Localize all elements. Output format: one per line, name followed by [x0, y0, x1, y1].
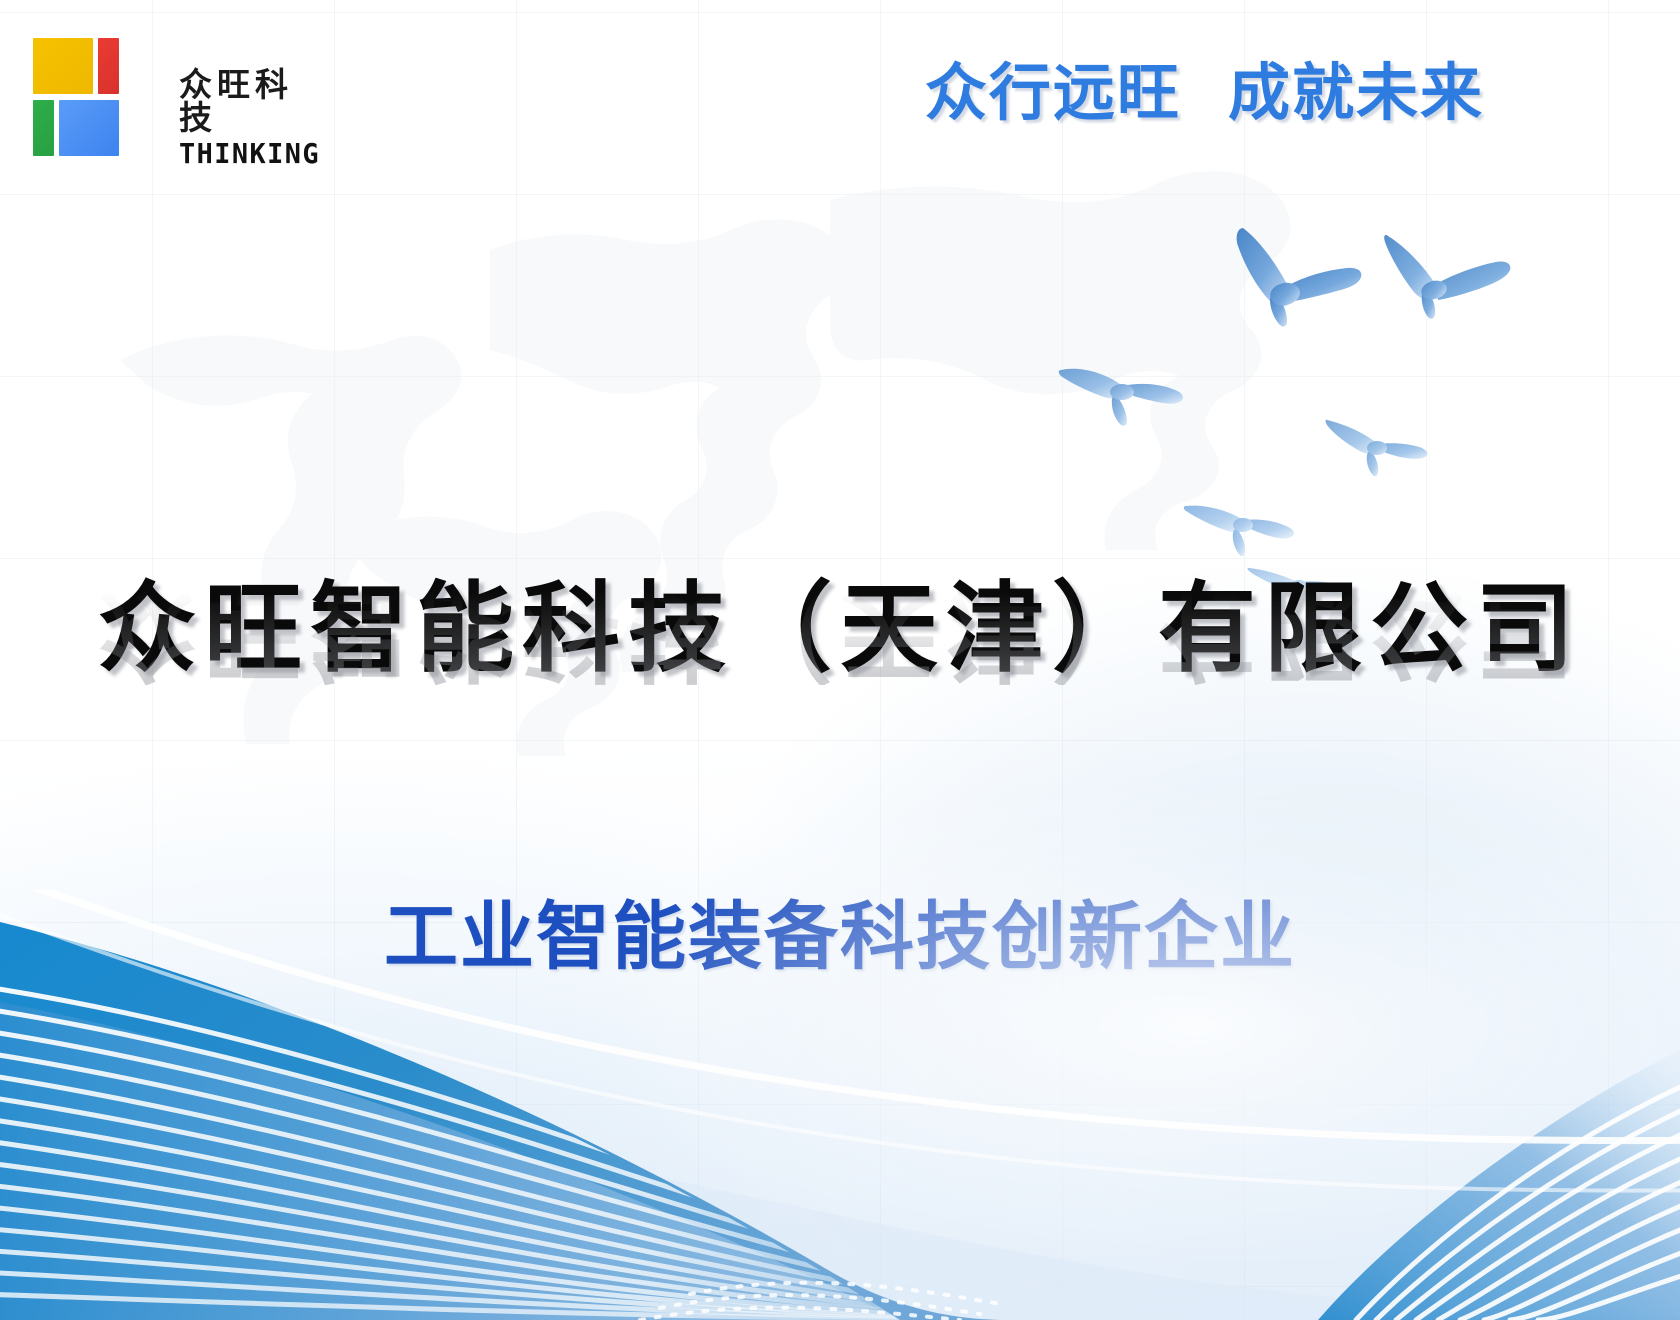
seagull-icon-2 — [1378, 228, 1518, 318]
logo-block-yellow-icon — [33, 38, 93, 94]
seagull-icon-1 — [1205, 222, 1380, 327]
logo-block-green-icon — [33, 100, 54, 156]
logo-block-red-icon — [98, 38, 119, 94]
presentation-title-slide: 众旺科技 THINKING 众行远旺 成就未来 — [0, 0, 1680, 1320]
logo-mark-icon — [33, 28, 127, 138]
page-subtitle: 工业智能装备科技创新企业 — [0, 900, 1680, 974]
slide-header: 众旺科技 THINKING 众行远旺 成就未来 — [0, 0, 1680, 200]
title-block: 众旺智能科技（天津）有限公司 众旺智能科技（天津）有限公司 — [0, 578, 1680, 788]
page-title-reflection: 众旺智能科技（天津）有限公司 — [0, 582, 1680, 685]
logo-divider — [167, 58, 169, 168]
company-logo[interactable]: 众旺科技 THINKING — [33, 28, 127, 138]
logo-wordmark: 众旺科技 THINKING — [179, 68, 326, 168]
seagull-icon-5 — [1180, 494, 1300, 566]
background-glow — [510, 740, 1680, 1260]
seagull-icon-4 — [1322, 412, 1432, 482]
logo-block-blue-icon — [59, 100, 119, 156]
seagull-icon-3 — [1055, 352, 1190, 437]
logo-english-name: THINKING — [179, 140, 320, 168]
header-slogan: 众行远旺 成就未来 — [925, 62, 1484, 124]
logo-chinese-name: 众旺科技 — [179, 68, 326, 134]
